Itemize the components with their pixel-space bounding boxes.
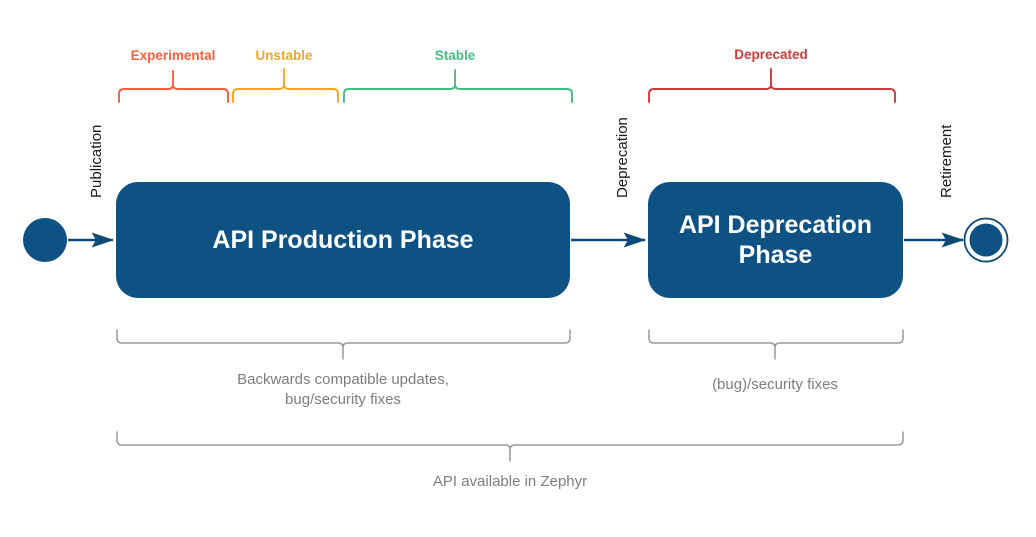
- caption-api-availability: API available in Zephyr: [433, 472, 587, 492]
- brace-deprecated: [649, 69, 895, 102]
- phase-label-experimental: Experimental: [131, 48, 216, 63]
- end-node[interactable]: [965, 219, 1008, 262]
- start-node[interactable]: [23, 218, 67, 262]
- bottom-annotation-braces: [117, 330, 903, 461]
- transition-label-publication: Publication: [88, 125, 105, 198]
- api-deprecation-phase-label: API Deprecation Phase: [648, 182, 903, 298]
- brace-production-support: [117, 330, 570, 359]
- caption-production-support: Backwards compatible updates,bug/securit…: [237, 370, 449, 410]
- brace-unstable: [233, 69, 338, 102]
- phase-label-deprecated: Deprecated: [734, 47, 808, 62]
- diagram-canvas: Experimental Unstable Stable Deprecated …: [0, 0, 1036, 537]
- brace-deprecation-support: [649, 330, 903, 359]
- top-phase-braces: [119, 69, 895, 102]
- caption-deprecation-support: (bug)/security fixes: [712, 375, 838, 395]
- phase-label-stable: Stable: [435, 48, 476, 63]
- api-production-phase-label: API Production Phase: [116, 182, 570, 298]
- brace-experimental: [119, 71, 228, 102]
- brace-stable: [344, 70, 572, 102]
- transition-label-deprecation: Deprecation: [614, 117, 631, 198]
- brace-api-availability: [117, 432, 903, 461]
- transition-label-retirement: Retirement: [938, 125, 955, 198]
- phase-label-unstable: Unstable: [255, 48, 312, 63]
